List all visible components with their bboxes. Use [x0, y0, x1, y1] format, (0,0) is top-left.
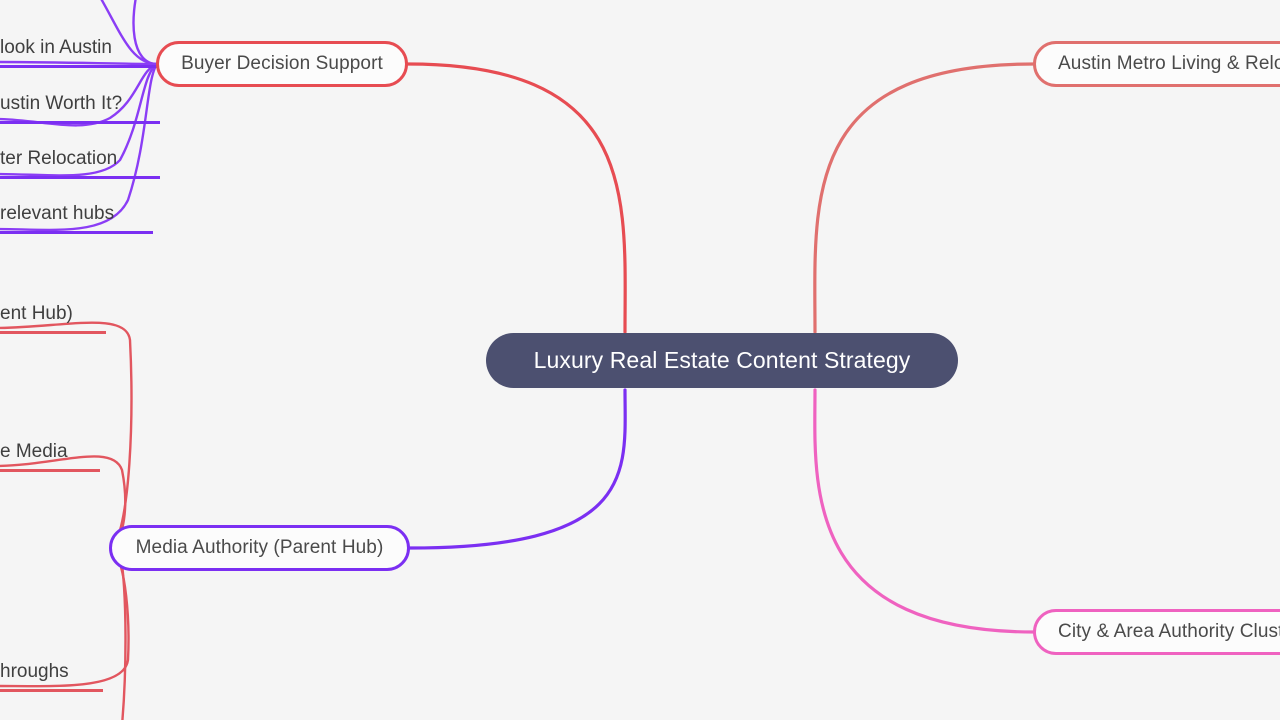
- node-buyer-decision-support[interactable]: Buyer Decision Support: [156, 41, 408, 87]
- leaf-media-2-label: e Media: [0, 441, 68, 469]
- leaf-media-2[interactable]: e Media: [0, 426, 100, 472]
- node-city-area-authority[interactable]: City & Area Authority Cluste: [1033, 609, 1280, 655]
- node-buyer-decision-support-label: Buyer Decision Support: [181, 53, 383, 75]
- leaf-buyer-2-underline: [0, 121, 160, 124]
- edge-root-to-city-area-authority: [815, 390, 1034, 632]
- root-node-label: Luxury Real Estate Content Strategy: [534, 347, 911, 374]
- node-austin-metro-living-label: Austin Metro Living & Reloc: [1058, 53, 1280, 75]
- leaf-buyer-1-underline: [0, 65, 165, 68]
- leaf-buyer-3[interactable]: ter Relocation: [0, 133, 160, 179]
- leaf-media-1[interactable]: ent Hub): [0, 288, 106, 334]
- node-austin-metro-living[interactable]: Austin Metro Living & Reloc: [1033, 41, 1280, 87]
- leaf-buyer-4-label: relevant hubs: [0, 203, 114, 231]
- edge-root-to-austin-metro-living: [815, 64, 1034, 332]
- leaf-media-1-label: ent Hub): [0, 303, 73, 331]
- leaf-media-1-underline: [0, 331, 106, 334]
- leaf-buyer-2[interactable]: ustin Worth It?: [0, 78, 160, 124]
- leaf-buyer-1[interactable]: look in Austin: [0, 22, 165, 68]
- leaf-buyer-4-underline: [0, 231, 153, 234]
- node-media-authority[interactable]: Media Authority (Parent Hub): [109, 525, 410, 571]
- root-node[interactable]: Luxury Real Estate Content Strategy: [486, 333, 958, 388]
- leaf-media-3-label: hroughs: [0, 661, 69, 689]
- leaf-buyer-2-label: ustin Worth It?: [0, 93, 122, 121]
- edge-root-to-media-authority: [410, 390, 625, 548]
- leaf-buyer-3-label: ter Relocation: [0, 148, 117, 176]
- leaf-media-2-underline: [0, 469, 100, 472]
- node-media-authority-label: Media Authority (Parent Hub): [136, 537, 384, 559]
- leaf-buyer-3-underline: [0, 176, 160, 179]
- mindmap-canvas: Luxury Real Estate Content Strategy Buye…: [0, 0, 1280, 720]
- edge-root-to-buyer-decision-support: [408, 64, 625, 332]
- leaf-buyer-1-label: look in Austin: [0, 37, 112, 65]
- node-city-area-authority-label: City & Area Authority Cluste: [1058, 621, 1280, 643]
- leaf-buyer-4[interactable]: relevant hubs: [0, 188, 153, 234]
- leaf-media-3[interactable]: hroughs: [0, 646, 103, 692]
- leaf-media-3-underline: [0, 689, 103, 692]
